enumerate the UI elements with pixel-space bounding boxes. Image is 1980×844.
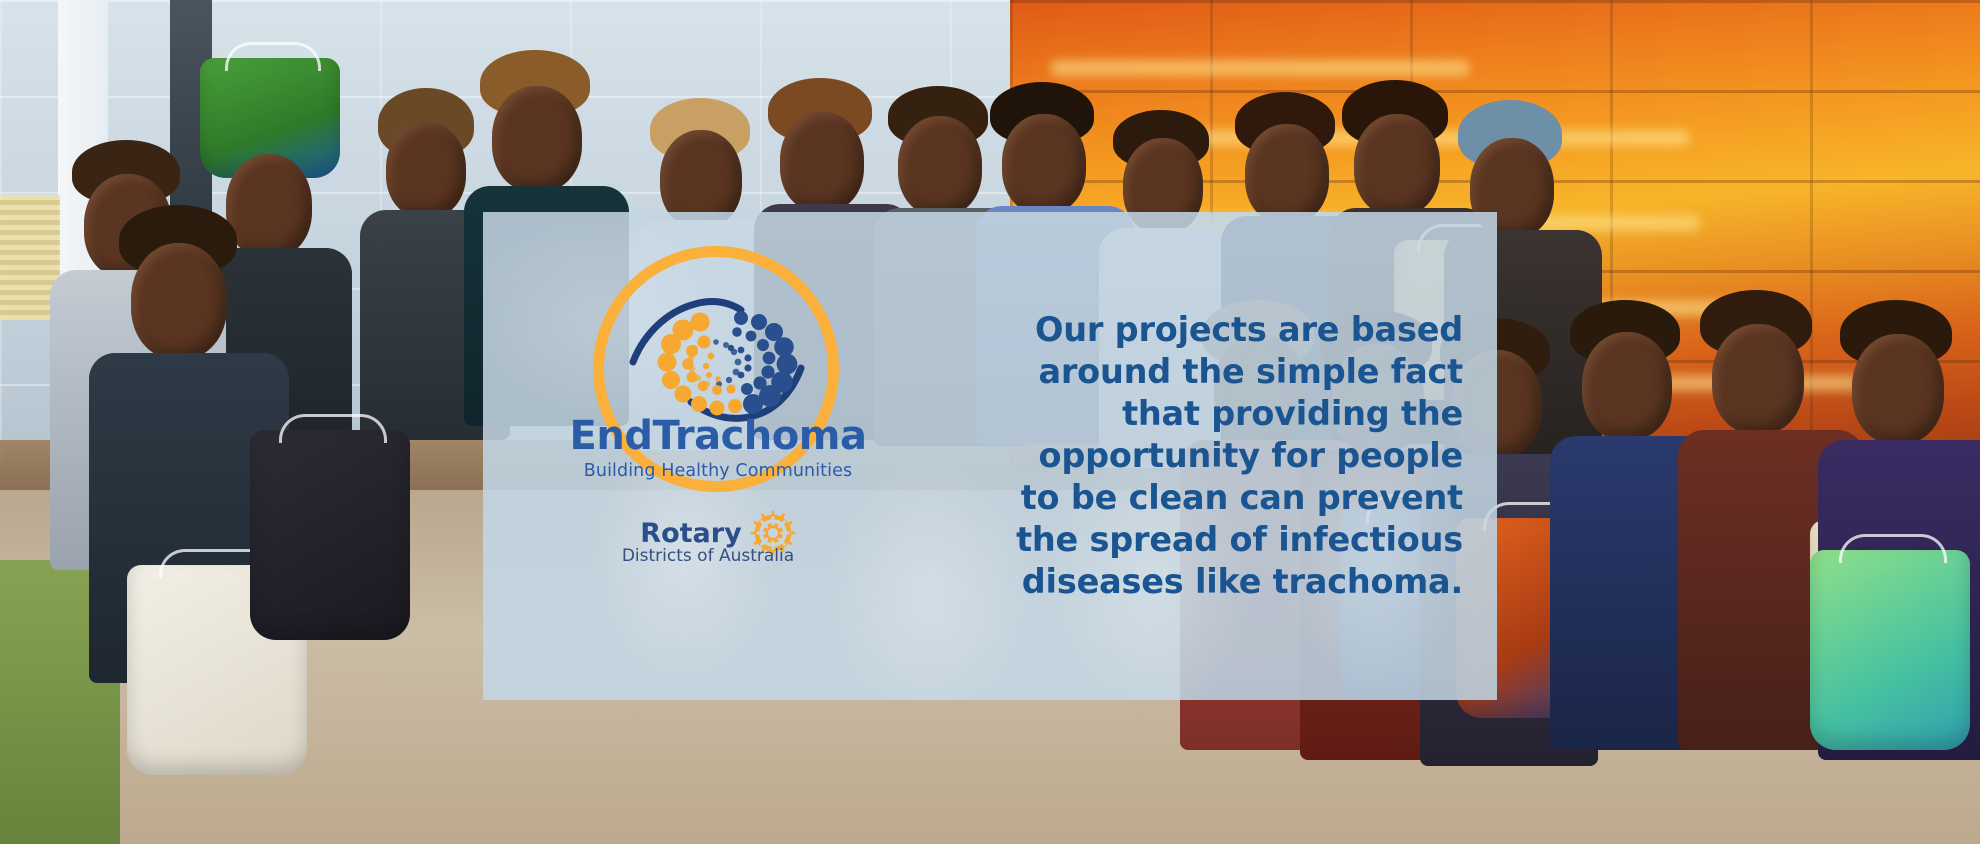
rotary-subtitle: Districts of Australia [483, 546, 933, 566]
banner-stage: EndTrachoma Building Healthy Communities… [0, 0, 1980, 844]
quote-line: opportunity for people [963, 435, 1463, 477]
logo-wordmark-block: EndTrachoma Building Healthy Communities [483, 416, 953, 481]
quote-line: that providing the [963, 393, 1463, 435]
quote-block: Our projects are based around the simple… [963, 212, 1463, 700]
logo-wordmark: EndTrachoma [483, 416, 953, 456]
quote-line: diseases like trachoma. [963, 561, 1463, 603]
logo-tagline: Building Healthy Communities [483, 461, 953, 481]
endtrachoma-logo: EndTrachoma Building Healthy Communities… [483, 228, 983, 698]
quote-line: the spread of infectious [963, 519, 1463, 561]
quote-line: around the simple fact [963, 351, 1463, 393]
content-overlay-panel: EndTrachoma Building Healthy Communities… [483, 212, 1497, 700]
rotary-wordmark: Rotary [640, 518, 741, 549]
quote-line: Our projects are based [963, 309, 1463, 351]
quote-line: to be clean can prevent [963, 477, 1463, 519]
